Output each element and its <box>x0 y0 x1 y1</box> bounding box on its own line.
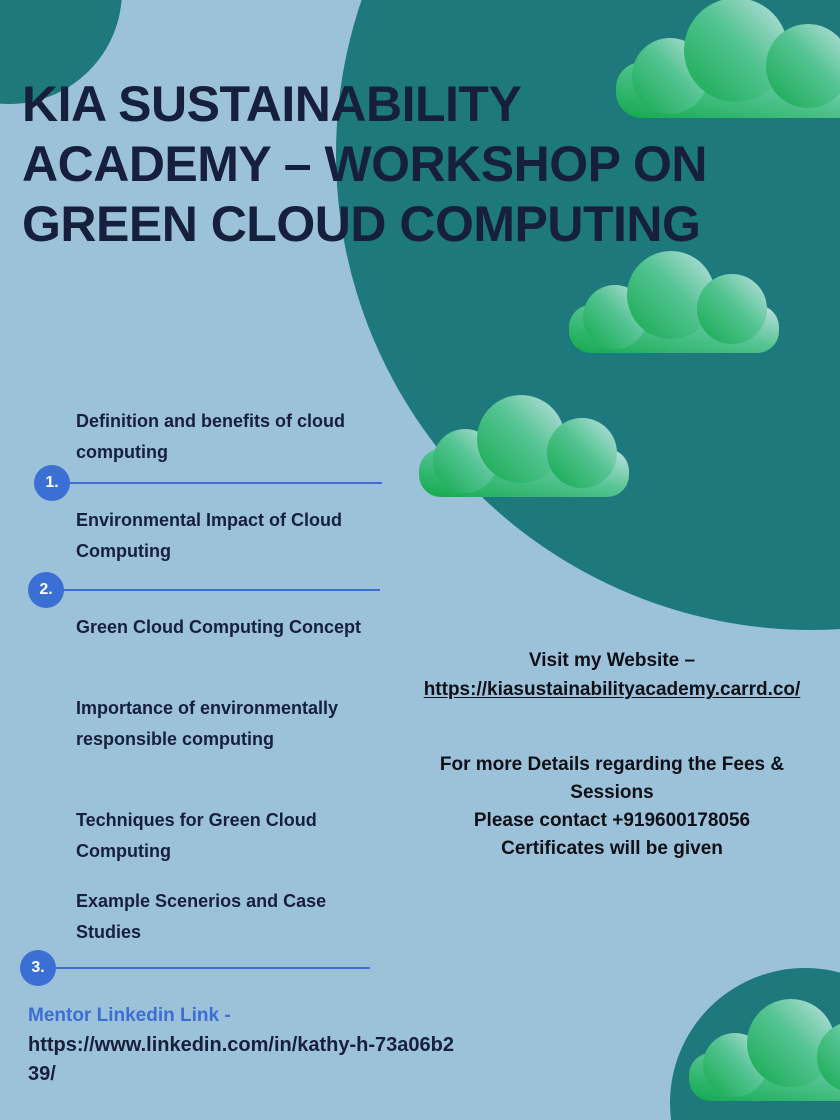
poster-canvas: KIA Sustainability Academy – Workshop on… <box>0 0 840 1120</box>
certificates-line: Certificates will be given <box>392 835 832 863</box>
step-number-badge: 3. <box>20 950 56 986</box>
list-item: Green Cloud Computing Concept <box>76 612 396 643</box>
website-label: Visit my Website – <box>392 646 832 675</box>
contact-phone-line: Please contact +919600178056 <box>392 807 832 835</box>
divider-line <box>62 589 380 591</box>
step-number-badge: 1. <box>34 465 70 501</box>
website-url-link[interactable]: https://kiasustainabilityacademy.carrd.c… <box>392 675 832 704</box>
mentor-linkedin-block: Mentor Linkedin Link - https://www.linke… <box>28 1002 458 1089</box>
details-line: For more Details regarding the Fees & <box>392 751 832 779</box>
cloud-icon <box>686 996 840 1104</box>
step-number-badge: 2. <box>28 572 64 608</box>
details-line: Sessions <box>392 779 832 807</box>
list-item: Techniques for Green Cloud Computing <box>76 805 396 867</box>
cloud-icon <box>416 392 632 500</box>
agenda-list: Definition and benefits of cloud computi… <box>0 0 420 1120</box>
list-item: Importance of environmentally responsibl… <box>76 693 396 755</box>
divider-line <box>68 482 382 484</box>
list-item: Example Scenerios and Case Studies <box>76 886 396 948</box>
divider-line <box>54 967 370 969</box>
mentor-linkedin-label: Mentor Linkedin Link - <box>28 1002 458 1031</box>
list-item: Environmental Impact of Cloud Computing <box>76 505 396 567</box>
list-item: Definition and benefits of cloud computi… <box>76 406 396 468</box>
fees-and-sessions-details: For more Details regarding the Fees & Se… <box>392 751 832 863</box>
cloud-icon <box>566 248 782 356</box>
mentor-linkedin-url[interactable]: https://www.linkedin.com/in/kathy-h-73a0… <box>28 1031 458 1089</box>
contact-info-block: Visit my Website – https://kiasustainabi… <box>392 646 832 863</box>
